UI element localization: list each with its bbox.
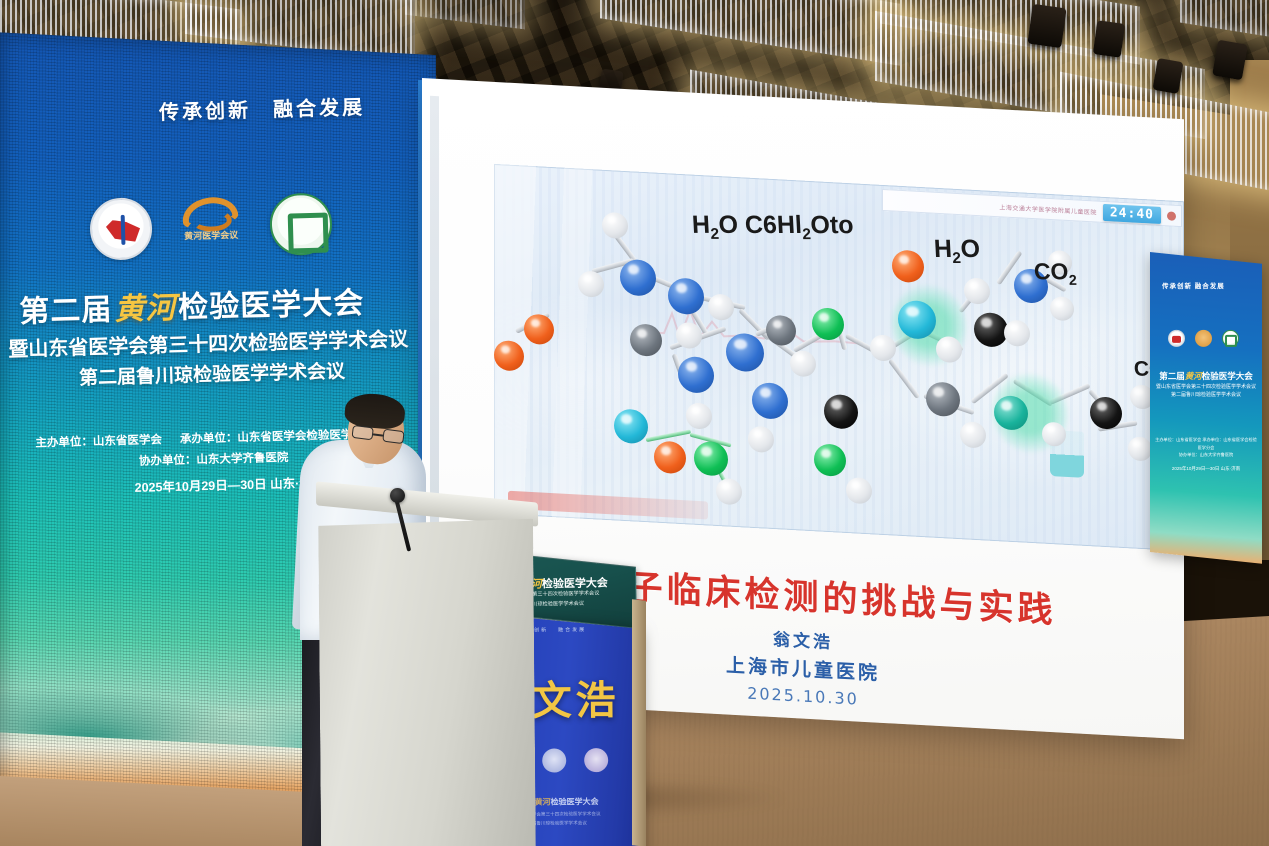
atom-hydrogen: [960, 421, 986, 448]
atom-hydrogen: [870, 334, 896, 361]
right-banner-slogan: 传承创新 融合发展: [1162, 280, 1225, 290]
chemical-formula: CO2: [1033, 258, 1077, 289]
conference-stage-photo: 传承创新融合发展 黄河医学会议 第二届黄河检验医学大会 暨山东省医学会第三十四次…: [0, 0, 1269, 846]
microphone-icon: [390, 488, 405, 503]
chemical-formula: H2O: [933, 235, 981, 268]
yellow-river-medical-conference-logo-icon: [1195, 330, 1212, 347]
stage-spotlight: [1027, 4, 1066, 48]
right-banner-logo-row: [1168, 330, 1239, 347]
stage-spotlight: [1152, 58, 1183, 94]
atom-hydrogen: [936, 336, 962, 363]
atom-hydrogen: [578, 270, 604, 297]
atom-oxygen: [524, 314, 554, 346]
right-banner-date: 2025年10月29日—30日 山东·济南: [1154, 466, 1258, 472]
atom-hydrogen: [1128, 436, 1152, 461]
podium-front-title-gold: 黄河: [535, 798, 551, 807]
right-subtitle-2: 第二届鲁川琼检验医学学术会议: [1154, 391, 1258, 399]
atom-hydrogen: [708, 293, 734, 320]
stage-spotlight: [1212, 40, 1248, 81]
host-label: 主办单位：山东省医学会: [35, 434, 162, 449]
shandong-medical-association-emblem-icon: [1168, 330, 1185, 347]
atom-hydrogen: [748, 426, 774, 453]
right-side-banner: 传承创新 融合发展 第二届黄河检验医学大会 暨山东省医学会第三十四次检验医学学术…: [1150, 252, 1262, 564]
conf-title-prefix: 第二届: [19, 293, 113, 328]
panel-header-text: 上海交通大学医学院附属儿童医院: [999, 202, 1097, 216]
atom-hydrogen: [790, 350, 816, 377]
banner-slogan: 传承创新融合发展: [159, 91, 366, 125]
conf-title-suffix: 检验医学大会: [178, 287, 365, 325]
banner-slogan-b: 融合发展: [273, 97, 366, 121]
right-title-suffix: 检验医学大会: [1202, 371, 1253, 381]
shandong-medical-association-emblem-icon: [89, 197, 153, 261]
right-subtitle-1: 暨山东省医学会第三十四次检验医学学术会议: [1154, 384, 1258, 392]
conf-title-gold: 黄河: [112, 291, 179, 328]
atom-carbon: [766, 315, 796, 347]
chemical-formula: H2O C6Hl2Oto: [691, 211, 854, 244]
stage-spotlight: [1093, 20, 1125, 58]
atom-hydrogen: [686, 402, 712, 429]
molecule-image-panel: 上海交通大学医学院附属儿童医院 24:40: [494, 164, 1184, 551]
atom-hydrogen: [964, 277, 990, 304]
atom-hydrogen: [716, 478, 742, 505]
podium-slogan-b: 融合发展: [558, 627, 586, 633]
qilu-hospital-emblem-icon: [584, 748, 608, 772]
qilu-hospital-emblem-icon: [269, 192, 333, 256]
right-title-gold: 黄河: [1185, 371, 1202, 381]
podium-right-edge: [632, 599, 646, 846]
right-banner-organizers: 主办单位：山东省医学会 承办单位：山东省医学会检验医学分会 协办单位：山东大学齐…: [1154, 436, 1258, 459]
right-org-1: 主办单位：山东省医学会 承办单位：山东省医学会检验医学分会: [1154, 436, 1258, 451]
yellow-river-medical-conference-logo-icon: 黄河医学会议: [177, 195, 245, 259]
banner-slogan-a: 传承创新: [159, 100, 252, 124]
atom-hydrogen: [676, 322, 702, 349]
atom-hydrogen: [602, 212, 628, 239]
qilu-hospital-emblem-icon: [1222, 330, 1239, 347]
right-title-prefix: 第二届: [1159, 371, 1185, 381]
countdown-timer: 24:40: [1103, 203, 1161, 223]
yellow-river-medical-conference-logo-icon: [542, 748, 566, 772]
atom-oxygen: [494, 340, 524, 372]
banner-logo-row: 黄河医学会议: [89, 192, 333, 260]
podium-front-title-suffix: 检验医学大会: [551, 797, 599, 806]
atom-hydrogen: [846, 477, 872, 504]
panel-header-logo-icon: [1167, 211, 1176, 220]
logo-caption: 黄河医学会议: [178, 231, 244, 243]
atom-hydrogen: [1042, 422, 1066, 447]
right-banner-subtitles: 暨山东省医学会第三十四次检验医学学术会议 第二届鲁川琼检验医学学术会议: [1154, 384, 1258, 399]
atom-hydrogen: [1004, 320, 1030, 347]
lectern: [318, 498, 536, 846]
conference-title-block: 第二届黄河检验医学大会 暨山东省医学会第三十四次检验医学学术会议 第二届鲁川琼检…: [19, 276, 422, 391]
atom-hydrogen: [1050, 296, 1074, 321]
right-banner-title: 第二届黄河检验医学大会: [1158, 370, 1254, 382]
right-org-2: 协办单位：山东大学齐鲁医院: [1154, 451, 1258, 459]
